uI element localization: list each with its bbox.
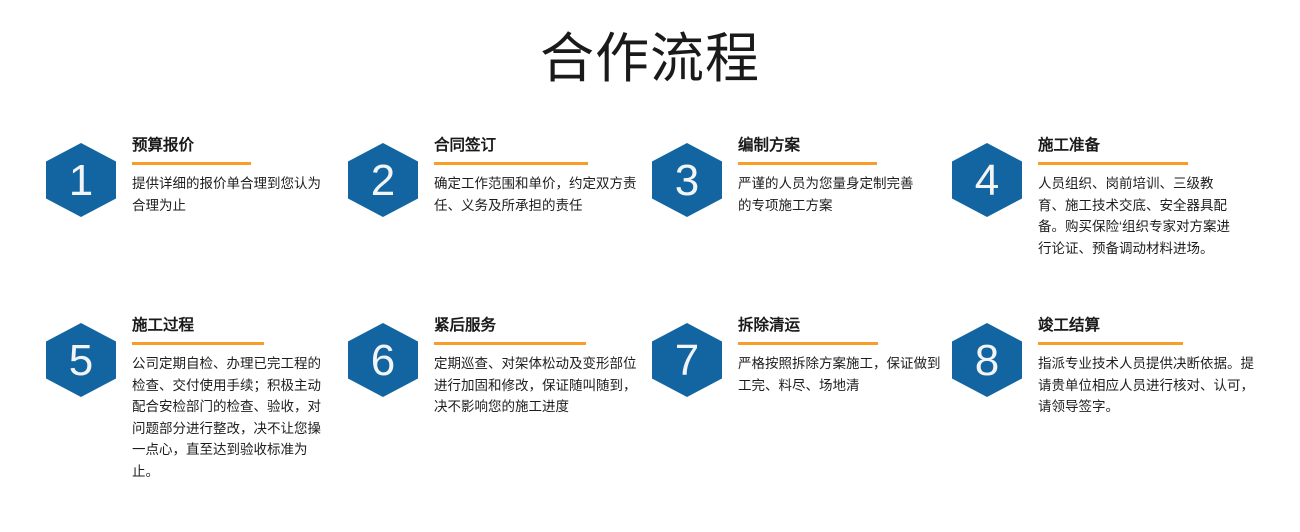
step-text-5: 施工过程 公司定期自检、办理已完工程的检查、交付使用手续；积极主动配合安检部门的… [132, 316, 328, 482]
step-description: 定期巡查、对架体松动及变形部位进行加固和修改，保证随叫随到，决不影响您的施工进度 [434, 353, 649, 418]
step-text-2: 合同签订 确定工作范围和单价，约定双方责任、义务及所承担的责任 [434, 136, 654, 216]
step-description: 确定工作范围和单价，约定双方责任、义务及所承担的责任 [434, 173, 654, 216]
step-text-6: 紧后服务 定期巡查、对架体松动及变形部位进行加固和修改，保证随叫随到，决不影响您… [434, 316, 649, 418]
step-number: 3 [675, 159, 699, 203]
hexagon-icon: 1 [46, 143, 116, 217]
step-underline [1038, 342, 1183, 345]
step-number: 5 [69, 339, 93, 383]
step-badge-8: 8 [952, 323, 1022, 397]
step-row-top: 1 预算报价 提供详细的报价单合理到您认为合理为止 2 合同签订 确定工作范围和… [0, 136, 1300, 316]
step-text-4: 施工准备 人员组织、岗前培训、三级教育、施工技术交底、安全器具配备。购买保险‘组… [1038, 136, 1234, 259]
process-steps-container: 1 预算报价 提供详细的报价单合理到您认为合理为止 2 合同签订 确定工作范围和… [0, 136, 1300, 532]
step-underline [132, 342, 264, 345]
step-badge-6: 6 [348, 323, 418, 397]
hexagon-icon: 7 [652, 323, 722, 397]
step-underline [738, 162, 877, 165]
step-underline [738, 342, 878, 345]
hexagon-icon: 8 [952, 323, 1022, 397]
step-badge-2: 2 [348, 143, 418, 217]
step-number: 1 [69, 159, 93, 203]
step-number: 8 [975, 339, 999, 383]
step-title: 编制方案 [738, 136, 918, 156]
step-badge-5: 5 [46, 323, 116, 397]
step-row-bottom: 5 施工过程 公司定期自检、办理已完工程的检查、交付使用手续；积极主动配合安检部… [0, 316, 1300, 532]
step-description: 人员组织、岗前培训、三级教育、施工技术交底、安全器具配备。购买保险‘组织专家对方… [1038, 173, 1234, 259]
step-number: 4 [975, 159, 999, 203]
step-number: 6 [371, 339, 395, 383]
hexagon-icon: 4 [952, 143, 1022, 217]
step-title: 施工过程 [132, 316, 328, 336]
step-title: 合同签订 [434, 136, 654, 156]
step-title: 预算报价 [132, 136, 328, 156]
step-text-3: 编制方案 严谨的人员为您量身定制完善的专项施工方案 [738, 136, 918, 216]
step-title: 紧后服务 [434, 316, 649, 336]
step-number: 7 [675, 339, 699, 383]
step-text-7: 拆除清运 严格按照拆除方案施工，保证做到工完、料尽、场地清 [738, 316, 950, 396]
step-description: 严谨的人员为您量身定制完善的专项施工方案 [738, 173, 918, 216]
hexagon-icon: 6 [348, 323, 418, 397]
hexagon-icon: 5 [46, 323, 116, 397]
step-underline [434, 342, 586, 345]
step-underline [434, 162, 588, 165]
step-title: 竣工结算 [1038, 316, 1262, 336]
step-badge-3: 3 [652, 143, 722, 217]
step-number: 2 [371, 159, 395, 203]
step-title: 施工准备 [1038, 136, 1234, 156]
step-badge-4: 4 [952, 143, 1022, 217]
step-description: 公司定期自检、办理已完工程的检查、交付使用手续；积极主动配合安检部门的检查、验收… [132, 353, 328, 482]
step-title: 拆除清运 [738, 316, 950, 336]
step-underline [1038, 162, 1188, 165]
step-description: 指派专业技术人员提供决断依据。提请贵单位相应人员进行核对、认可，请领导签字。 [1038, 353, 1262, 418]
step-text-8: 竣工结算 指派专业技术人员提供决断依据。提请贵单位相应人员进行核对、认可，请领导… [1038, 316, 1262, 418]
step-badge-1: 1 [46, 143, 116, 217]
step-description: 提供详细的报价单合理到您认为合理为止 [132, 173, 328, 216]
step-text-1: 预算报价 提供详细的报价单合理到您认为合理为止 [132, 136, 328, 216]
step-description: 严格按照拆除方案施工，保证做到工完、料尽、场地清 [738, 353, 950, 396]
hexagon-icon: 3 [652, 143, 722, 217]
hexagon-icon: 2 [348, 143, 418, 217]
step-underline [132, 162, 251, 165]
page-title: 合作流程 [0, 26, 1300, 92]
step-badge-7: 7 [652, 323, 722, 397]
